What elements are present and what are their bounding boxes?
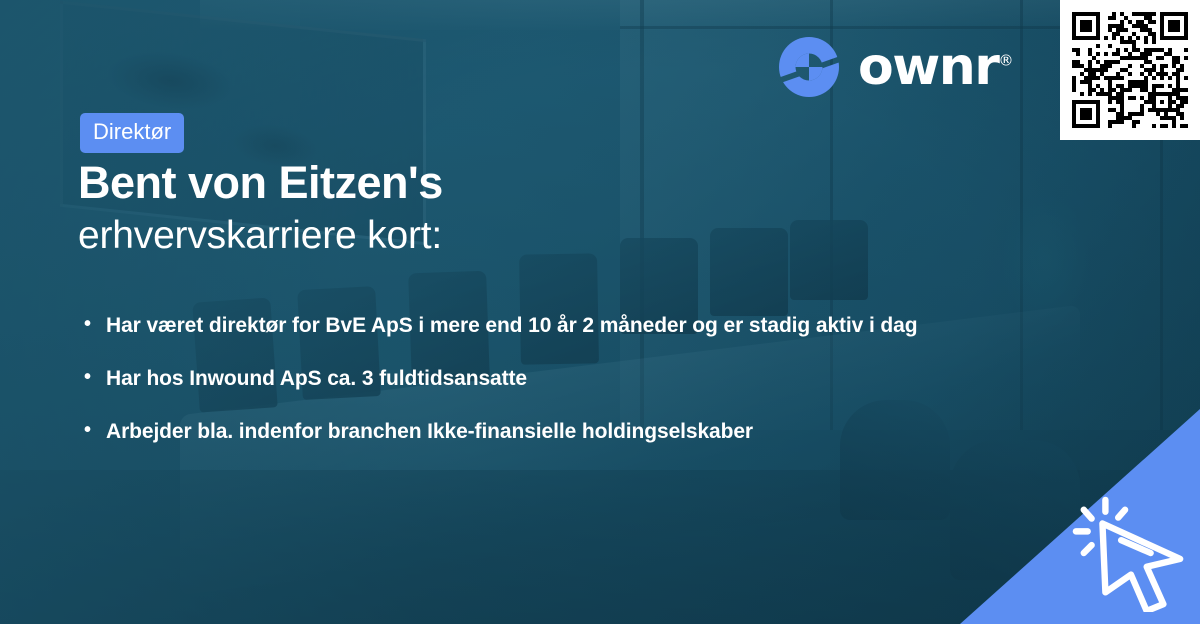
ownr-logo: ownr® [776,34,1013,100]
ownr-wordmark-text: ownr [858,37,998,97]
headline: Bent von Eitzen's erhvervskarriere kort: [78,157,778,260]
ownr-circle-swoosh-logo-icon [776,34,842,100]
headline-line-1: Bent von Eitzen's [78,157,778,209]
ownr-wordmark: ownr® [858,41,1013,93]
list-item: Har hos Inwound ApS ca. 3 fuldtidsansatt… [84,363,964,395]
list-item: Arbejder bla. indenfor branchen Ikke-fin… [84,416,964,448]
list-item: Har været direktør for BvE ApS i mere en… [84,310,964,342]
qr-code-image [1072,12,1188,128]
click-cursor-icon [1070,494,1188,612]
qr-code[interactable] [1060,0,1200,140]
career-summary-list: Har været direktør for BvE ApS i mere en… [84,310,964,448]
registered-trademark-symbol: ® [998,52,1013,70]
ownr-profile-card: ownr® Direktør Bent von Eitzen's erhverv… [0,0,1200,624]
role-badge: Direktør [80,113,184,153]
headline-line-2: erhvervskarriere kort: [78,213,778,260]
